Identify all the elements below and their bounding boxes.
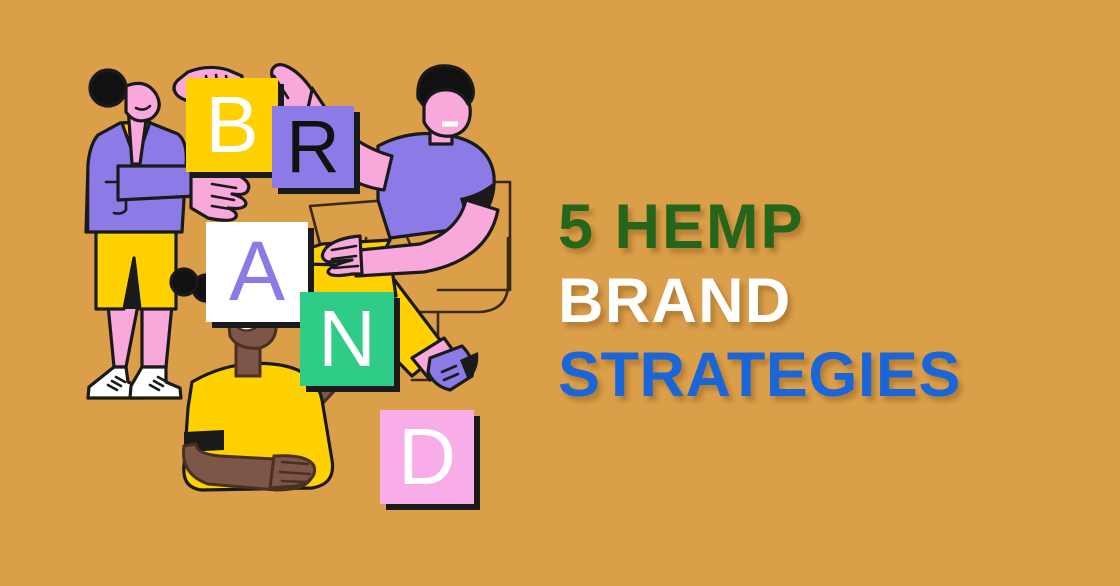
headline-line-2: BRAND bbox=[558, 264, 1078, 338]
letter-block-D-glyph: D bbox=[398, 412, 456, 501]
standing-person-hair-bun bbox=[90, 70, 126, 106]
standing-person-arm-sleeve bbox=[118, 166, 196, 200]
headline-line-3: STRATEGIES bbox=[558, 338, 1078, 412]
letter-block-R: R bbox=[272, 105, 360, 194]
brand-blocks-illustration: .ol { stroke: #1A1A1A; stroke-width: 3.2… bbox=[60, 60, 530, 530]
letter-block-R-glyph: R bbox=[286, 105, 339, 188]
headline-block: 5 HEMP BRAND STRATEGIES bbox=[558, 190, 1078, 412]
letter-block-B: B bbox=[186, 78, 284, 178]
letter-block-A: A bbox=[206, 222, 314, 328]
letter-block-D: D bbox=[380, 410, 480, 510]
letter-block-A-glyph: A bbox=[229, 224, 285, 318]
standing-person-back-leg bbox=[108, 305, 138, 367]
headline-line-1: 5 HEMP bbox=[558, 190, 1078, 264]
poster-canvas: .ol { stroke: #1A1A1A; stroke-width: 3.2… bbox=[0, 0, 1120, 586]
letter-block-N-glyph: N bbox=[318, 294, 376, 383]
standing-person-front-leg bbox=[142, 305, 172, 367]
letter-block-N: N bbox=[300, 292, 400, 392]
standing-person-head bbox=[126, 83, 159, 121]
letter-block-B-glyph: B bbox=[205, 80, 258, 169]
foreground-person-braid-bead bbox=[171, 269, 197, 295]
